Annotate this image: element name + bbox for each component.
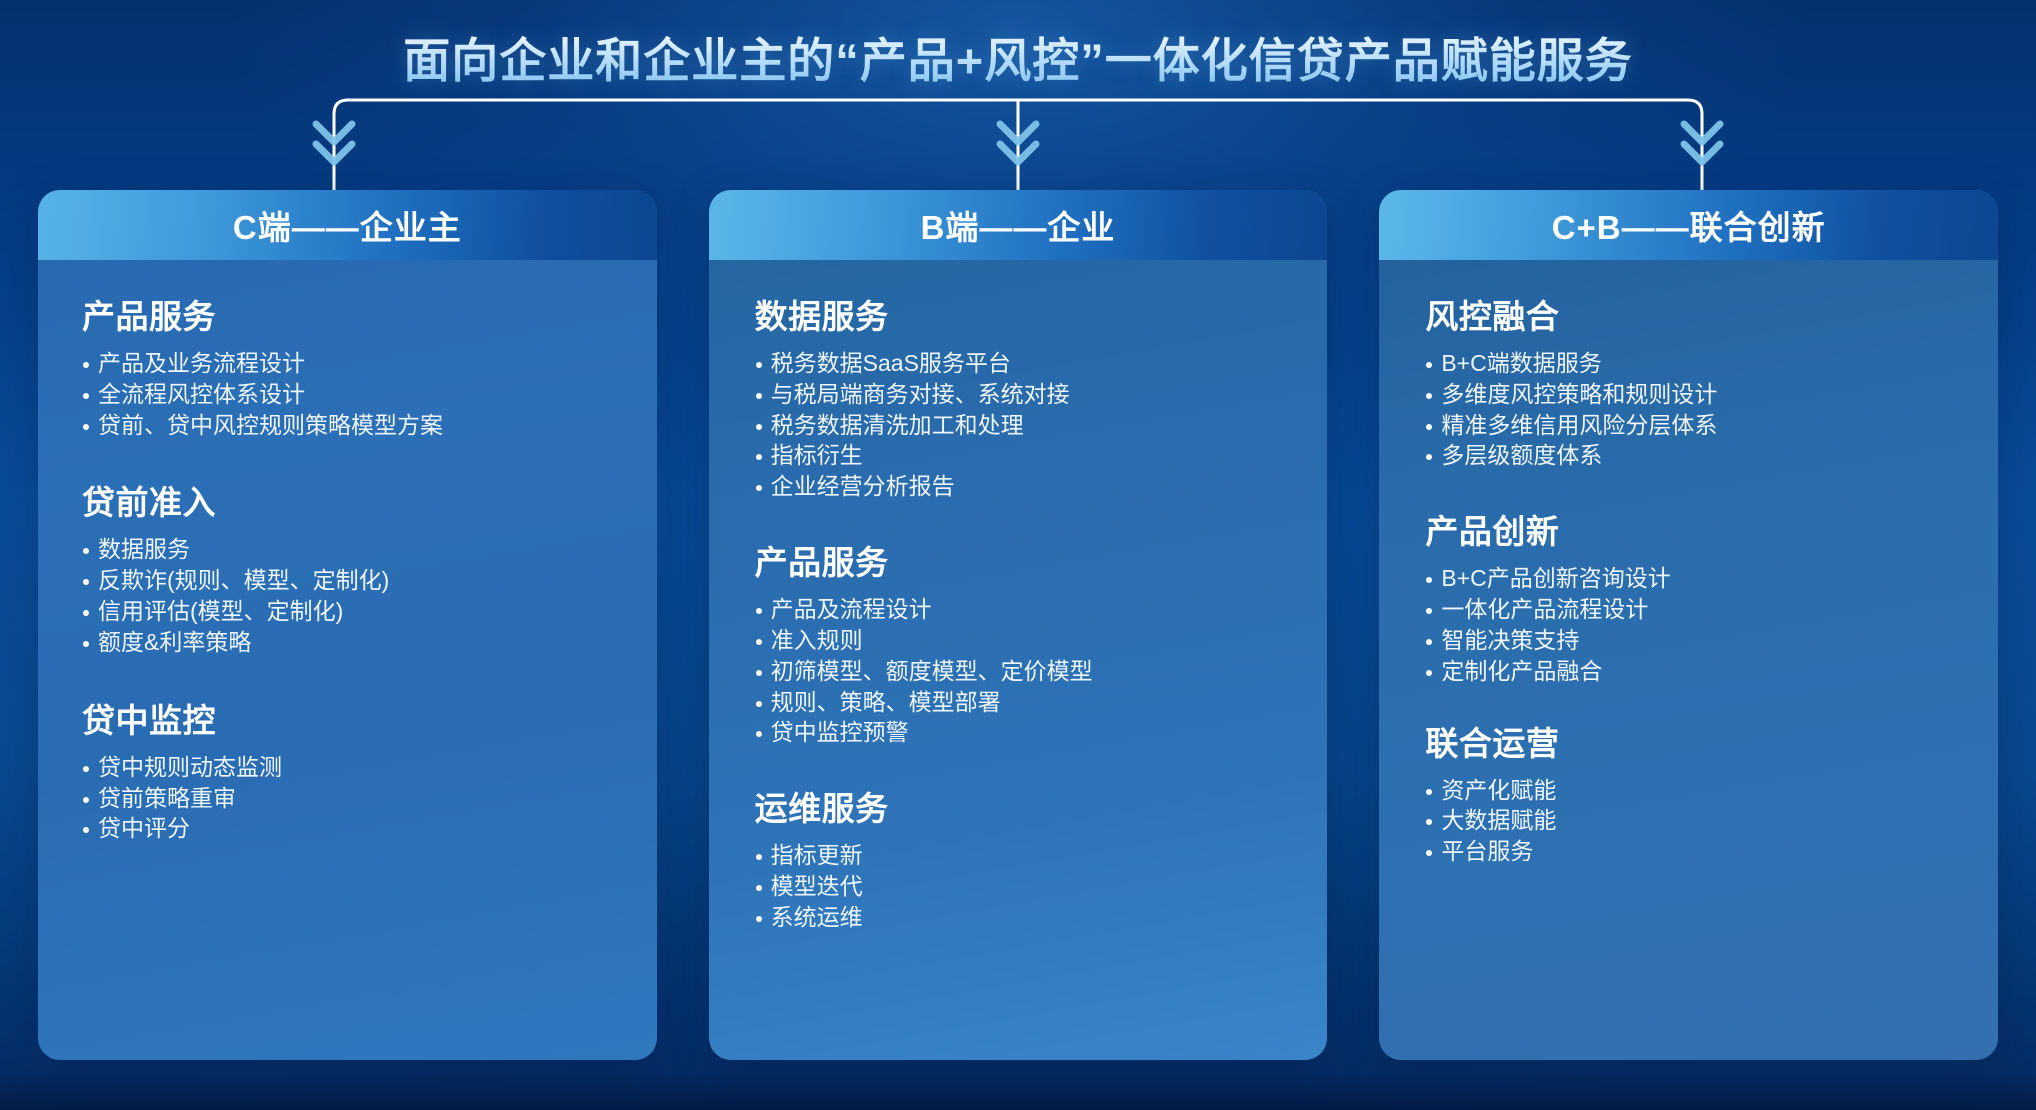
section-title: 风控融合	[1425, 290, 1972, 338]
section-risk-fusion: 风控融合 B+C端数据服务 多维度风控策略和规则设计 精准多维信用风险分层体系 …	[1425, 290, 1972, 471]
list-item: 系统运维	[755, 902, 1302, 933]
list-item: 资产化赋能	[1425, 775, 1972, 806]
list-item: 大数据赋能	[1425, 805, 1972, 836]
list-item: 与税局端商务对接、系统对接	[755, 379, 1302, 410]
column-card-c-plus-b[interactable]: C+B——联合创新 风控融合 B+C端数据服务 多维度风控策略和规则设计 精准多…	[1379, 190, 1998, 1060]
section-title: 产品服务	[755, 536, 1302, 584]
column-header-c-plus-b: C+B——联合创新	[1379, 190, 1998, 260]
bullet-list: 资产化赋能 大数据赋能 平台服务	[1425, 775, 1972, 867]
infographic-canvas: 面向企业和企业主的“产品+风控”一体化信贷产品赋能服务 C端——企业主 产品服务…	[0, 0, 2036, 1110]
list-item: 多维度风控策略和规则设计	[1425, 379, 1972, 410]
list-item: 贷中规则动态监测	[82, 752, 631, 783]
bullet-list: 产品及流程设计 准入规则 初筛模型、额度模型、定价模型 规则、策略、模型部署 贷…	[755, 594, 1302, 748]
list-item: 产品及业务流程设计	[82, 348, 631, 379]
list-item: B+C产品创新咨询设计	[1425, 563, 1972, 594]
bullet-list: 数据服务 反欺诈(规则、模型、定制化) 信用评估(模型、定制化) 额度&利率策略	[82, 534, 631, 657]
column-card-b-end[interactable]: B端——企业 数据服务 税务数据SaaS服务平台 与税局端商务对接、系统对接 税…	[709, 190, 1328, 1060]
list-item: 精准多维信用风险分层体系	[1425, 410, 1972, 441]
section-preloan-admission: 贷前准入 数据服务 反欺诈(规则、模型、定制化) 信用评估(模型、定制化) 额度…	[82, 476, 631, 657]
section-title: 贷前准入	[82, 476, 631, 524]
bullet-list: 贷中规则动态监测 贷前策略重审 贷中评分	[82, 752, 631, 844]
section-joint-operation: 联合运营 资产化赋能 大数据赋能 平台服务	[1425, 717, 1972, 867]
connector-diagram	[0, 86, 2036, 196]
column-header-c-end: C端——企业主	[38, 190, 657, 260]
column-card-c-end[interactable]: C端——企业主 产品服务 产品及业务流程设计 全流程风控体系设计 贷前、贷中风控…	[38, 190, 657, 1060]
columns-container: C端——企业主 产品服务 产品及业务流程设计 全流程风控体系设计 贷前、贷中风控…	[38, 190, 1998, 1060]
list-item: B+C端数据服务	[1425, 348, 1972, 379]
section-title: 运维服务	[755, 782, 1302, 830]
list-item: 全流程风控体系设计	[82, 379, 631, 410]
section-data-service: 数据服务 税务数据SaaS服务平台 与税局端商务对接、系统对接 税务数据清洗加工…	[755, 290, 1302, 502]
section-title: 产品创新	[1425, 505, 1972, 553]
list-item: 反欺诈(规则、模型、定制化)	[82, 565, 631, 596]
list-item: 额度&利率策略	[82, 627, 631, 658]
bullet-list: 指标更新 模型迭代 系统运维	[755, 840, 1302, 932]
section-product-innovation: 产品创新 B+C产品创新咨询设计 一体化产品流程设计 智能决策支持 定制化产品融…	[1425, 505, 1972, 686]
list-item: 模型迭代	[755, 871, 1302, 902]
bullet-list: 产品及业务流程设计 全流程风控体系设计 贷前、贷中风控规则策略模型方案	[82, 348, 631, 440]
list-item: 数据服务	[82, 534, 631, 565]
list-item: 贷中评分	[82, 813, 631, 844]
section-ops-service: 运维服务 指标更新 模型迭代 系统运维	[755, 782, 1302, 932]
list-item: 税务数据SaaS服务平台	[755, 348, 1302, 379]
section-inloan-monitoring: 贷中监控 贷中规则动态监测 贷前策略重审 贷中评分	[82, 694, 631, 844]
list-item: 智能决策支持	[1425, 625, 1972, 656]
page-title: 面向企业和企业主的“产品+风控”一体化信贷产品赋能服务	[0, 22, 2036, 91]
list-item: 规则、策略、模型部署	[755, 687, 1302, 718]
bullet-list: B+C产品创新咨询设计 一体化产品流程设计 智能决策支持 定制化产品融合	[1425, 563, 1972, 686]
list-item: 贷前策略重审	[82, 783, 631, 814]
section-title: 贷中监控	[82, 694, 631, 742]
list-item: 指标更新	[755, 840, 1302, 871]
section-product-service: 产品服务 产品及流程设计 准入规则 初筛模型、额度模型、定价模型 规则、策略、模…	[755, 536, 1302, 748]
list-item: 信用评估(模型、定制化)	[82, 596, 631, 627]
list-item: 贷中监控预警	[755, 717, 1302, 748]
section-title: 产品服务	[82, 290, 631, 338]
list-item: 税务数据清洗加工和处理	[755, 410, 1302, 441]
section-title: 联合运营	[1425, 717, 1972, 765]
list-item: 多层级额度体系	[1425, 440, 1972, 471]
column-body-b-end: 数据服务 税务数据SaaS服务平台 与税局端商务对接、系统对接 税务数据清洗加工…	[709, 260, 1328, 1060]
list-item: 准入规则	[755, 625, 1302, 656]
list-item: 贷前、贷中风控规则策略模型方案	[82, 410, 631, 441]
column-body-c-end: 产品服务 产品及业务流程设计 全流程风控体系设计 贷前、贷中风控规则策略模型方案…	[38, 260, 657, 1060]
column-header-b-end: B端——企业	[709, 190, 1328, 260]
section-title: 数据服务	[755, 290, 1302, 338]
column-body-c-plus-b: 风控融合 B+C端数据服务 多维度风控策略和规则设计 精准多维信用风险分层体系 …	[1379, 260, 1998, 1060]
bullet-list: B+C端数据服务 多维度风控策略和规则设计 精准多维信用风险分层体系 多层级额度…	[1425, 348, 1972, 471]
list-item: 企业经营分析报告	[755, 471, 1302, 502]
list-item: 定制化产品融合	[1425, 656, 1972, 687]
section-product-service: 产品服务 产品及业务流程设计 全流程风控体系设计 贷前、贷中风控规则策略模型方案	[82, 290, 631, 440]
list-item: 产品及流程设计	[755, 594, 1302, 625]
bullet-list: 税务数据SaaS服务平台 与税局端商务对接、系统对接 税务数据清洗加工和处理 指…	[755, 348, 1302, 502]
list-item: 平台服务	[1425, 836, 1972, 867]
list-item: 初筛模型、额度模型、定价模型	[755, 656, 1302, 687]
list-item: 一体化产品流程设计	[1425, 594, 1972, 625]
list-item: 指标衍生	[755, 440, 1302, 471]
